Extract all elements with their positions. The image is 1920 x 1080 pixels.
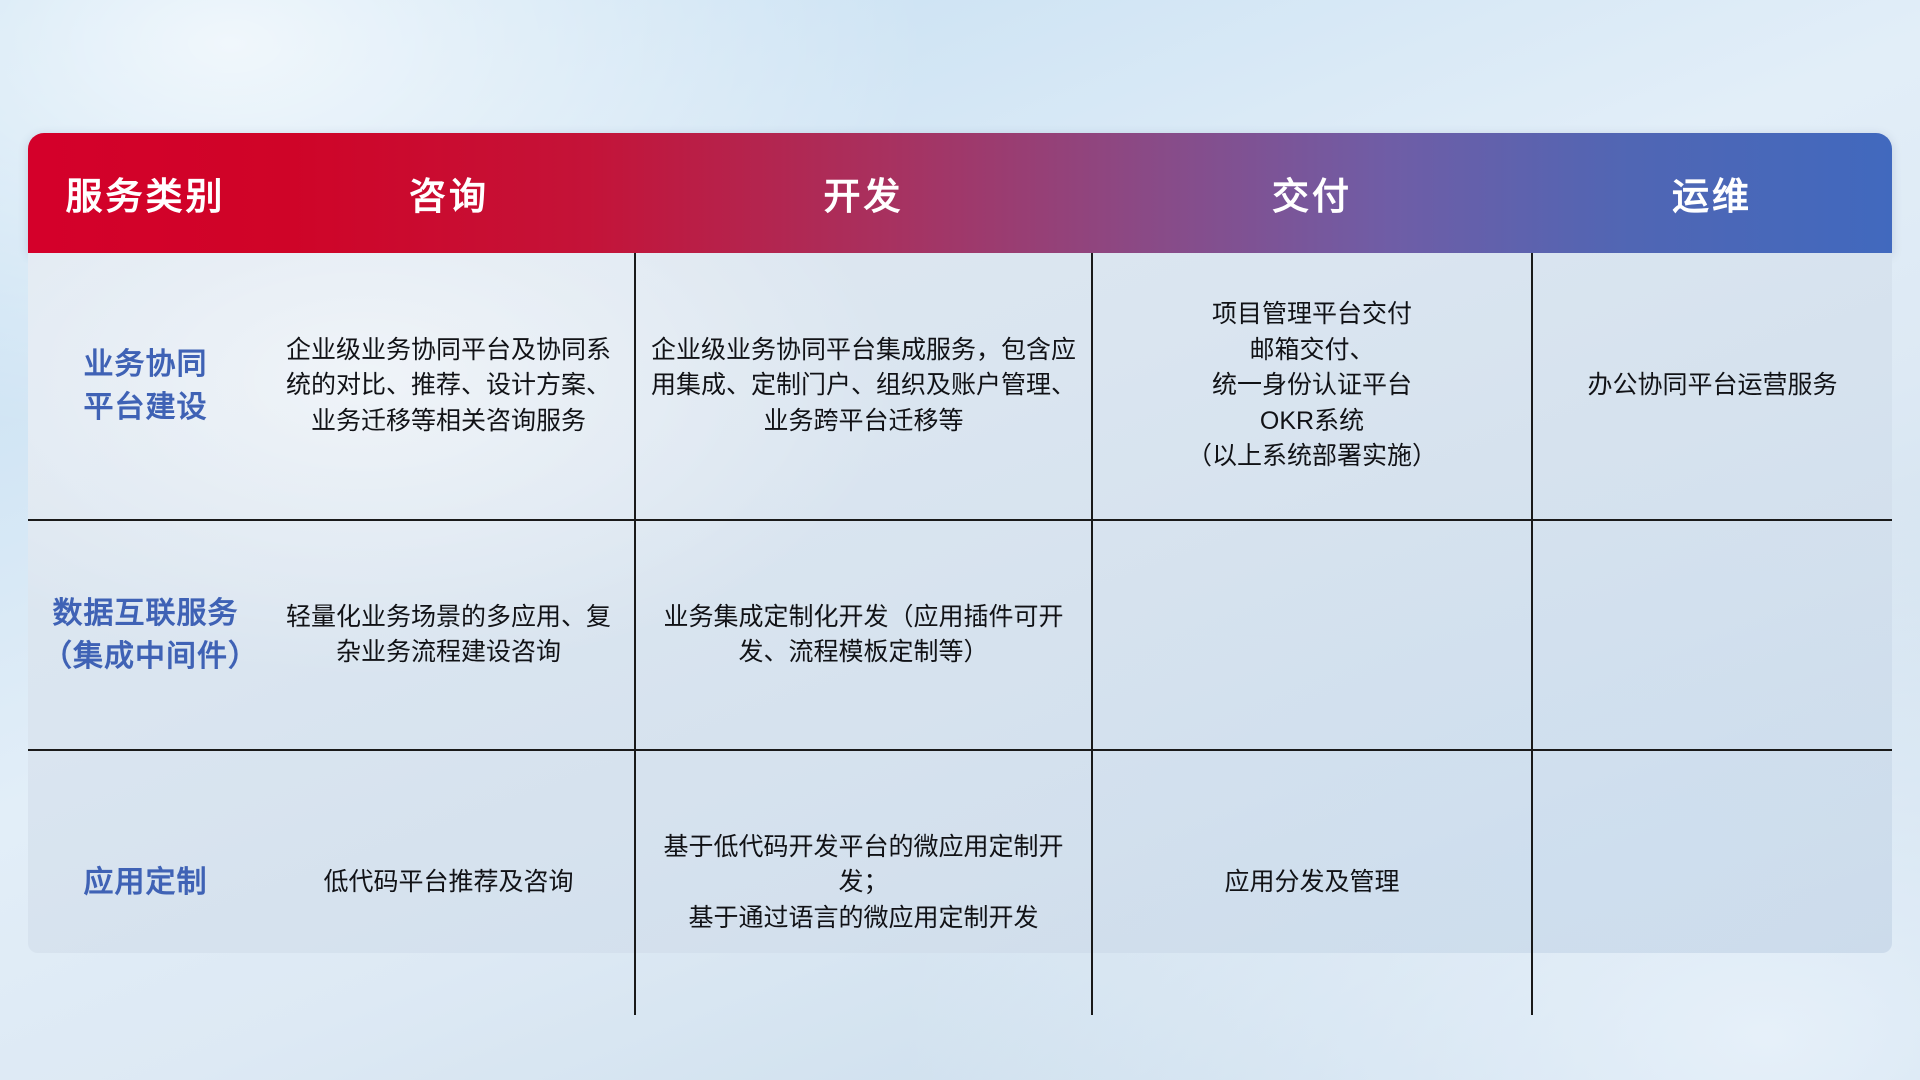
cell-text: 低代码平台推荐及咨询: [277, 865, 620, 901]
cell-consulting-row1: 企业级业务协同平台及协同系统的对比、推荐、设计方案、业务迁移等相关咨询服务: [263, 253, 635, 520]
cell-text: 办公协同平台运营服务: [1547, 368, 1878, 404]
column-header-development: 开发: [635, 133, 1092, 253]
cell-operations-row3: [1532, 750, 1892, 1015]
cell-operations-row2: [1532, 520, 1892, 750]
cell-delivery-row1: 项目管理平台交付邮箱交付、统一身份认证平台OKR系统（以上系统部署实施）: [1092, 253, 1532, 520]
cell-text: 项目管理平台交付邮箱交付、统一身份认证平台OKR系统（以上系统部署实施）: [1107, 297, 1517, 475]
row-label-business-collaboration: 业务协同平台建设: [28, 253, 263, 520]
cell-development-row2: 业务集成定制化开发（应用插件可开发、流程模板定制等）: [635, 520, 1092, 750]
service-matrix-table: 服务类别 咨询 开发 交付 运维 业务协同平台建设 企: [28, 133, 1892, 953]
cell-operations-row1: 办公协同平台运营服务: [1532, 253, 1892, 520]
cell-text: 轻量化业务场景的多应用、复杂业务流程建设咨询: [277, 600, 620, 671]
cell-consulting-row2: 轻量化业务场景的多应用、复杂业务流程建设咨询: [263, 520, 635, 750]
cell-text: 业务集成定制化开发（应用插件可开发、流程模板定制等）: [650, 600, 1077, 671]
column-header-operations: 运维: [1532, 133, 1892, 253]
cell-text: 基于低代码开发平台的微应用定制开发；基于通过语言的微应用定制开发: [650, 830, 1077, 937]
cell-text: 企业级业务协同平台及协同系统的对比、推荐、设计方案、业务迁移等相关咨询服务: [277, 333, 620, 440]
cell-development-row3: 基于低代码开发平台的微应用定制开发；基于通过语言的微应用定制开发: [635, 750, 1092, 1015]
row-label-app-customization: 应用定制: [28, 750, 263, 1015]
column-header-consulting: 咨询: [263, 133, 635, 253]
slide-canvas: 服务类别 咨询 开发 交付 运维 业务协同平台建设 企: [0, 0, 1920, 1080]
cell-development-row1: 企业级业务协同平台集成服务，包含应用集成、定制门户、组织及账户管理、业务跨平台迁…: [635, 253, 1092, 520]
cell-text: 应用分发及管理: [1107, 865, 1517, 901]
column-header-delivery: 交付: [1092, 133, 1532, 253]
cell-delivery-row3: 应用分发及管理: [1092, 750, 1532, 1015]
cell-text: 数据互联服务（集成中间件）: [42, 592, 249, 679]
table-row: 业务协同平台建设 企业级业务协同平台及协同系统的对比、推荐、设计方案、业务迁移等…: [28, 253, 1892, 520]
table-body: 业务协同平台建设 企业级业务协同平台及协同系统的对比、推荐、设计方案、业务迁移等…: [28, 253, 1892, 1015]
table-row: 数据互联服务（集成中间件） 轻量化业务场景的多应用、复杂业务流程建设咨询 业务集…: [28, 520, 1892, 750]
row-label-data-integration: 数据互联服务（集成中间件）: [28, 520, 263, 750]
cell-text: 应用定制: [42, 861, 249, 905]
cell-text: 企业级业务协同平台集成服务，包含应用集成、定制门户、组织及账户管理、业务跨平台迁…: [650, 333, 1077, 440]
cell-delivery-row2: [1092, 520, 1532, 750]
column-header-category: 服务类别: [28, 133, 263, 253]
table-row: 应用定制 低代码平台推荐及咨询 基于低代码开发平台的微应用定制开发；基于通过语言…: [28, 750, 1892, 1015]
table-header-row: 服务类别 咨询 开发 交付 运维: [28, 133, 1892, 253]
cell-text: 业务协同平台建设: [42, 343, 249, 430]
cell-consulting-row3: 低代码平台推荐及咨询: [263, 750, 635, 1015]
